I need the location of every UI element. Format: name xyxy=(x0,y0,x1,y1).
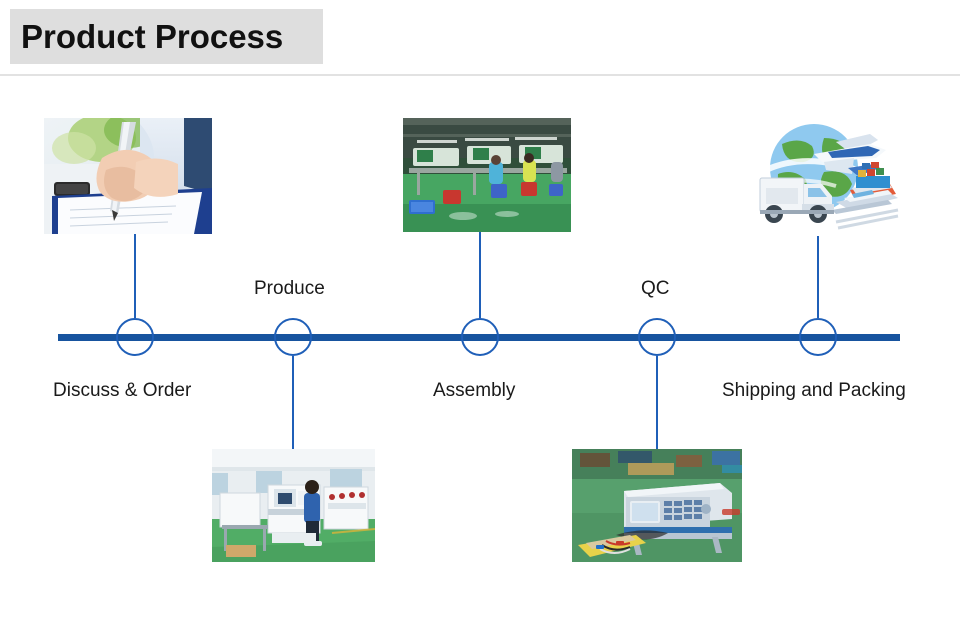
timeline-node-discuss-order[interactable] xyxy=(116,318,154,356)
stage-label-shipping-packing: Shipping and Packing xyxy=(722,381,906,400)
stage-label-produce: Produce xyxy=(254,279,325,298)
connector-discuss-order xyxy=(134,234,136,318)
connector-produce xyxy=(292,356,294,449)
timeline-node-assembly[interactable] xyxy=(461,318,499,356)
connector-assembly xyxy=(479,232,481,318)
page-header: Product Process xyxy=(0,0,960,76)
connector-shipping-packing xyxy=(817,236,819,318)
production-workshop-photo xyxy=(212,449,375,562)
logistics-shipping-photo xyxy=(740,118,900,236)
connector-qc xyxy=(656,356,658,449)
page-title: Product Process xyxy=(10,20,283,53)
timeline-node-produce[interactable] xyxy=(274,318,312,356)
stage-label-assembly: Assembly xyxy=(433,381,515,400)
stage-label-qc: QC xyxy=(641,279,670,298)
qc-testing-equipment-photo xyxy=(572,449,742,562)
assembly-line-photo xyxy=(403,118,571,232)
signing-contract-photo xyxy=(44,118,212,234)
page-title-box: Product Process xyxy=(10,9,323,64)
stage-label-discuss-order: Discuss & Order xyxy=(53,381,191,400)
timeline-node-shipping-packing[interactable] xyxy=(799,318,837,356)
timeline-node-qc[interactable] xyxy=(638,318,676,356)
header-divider xyxy=(0,74,960,76)
